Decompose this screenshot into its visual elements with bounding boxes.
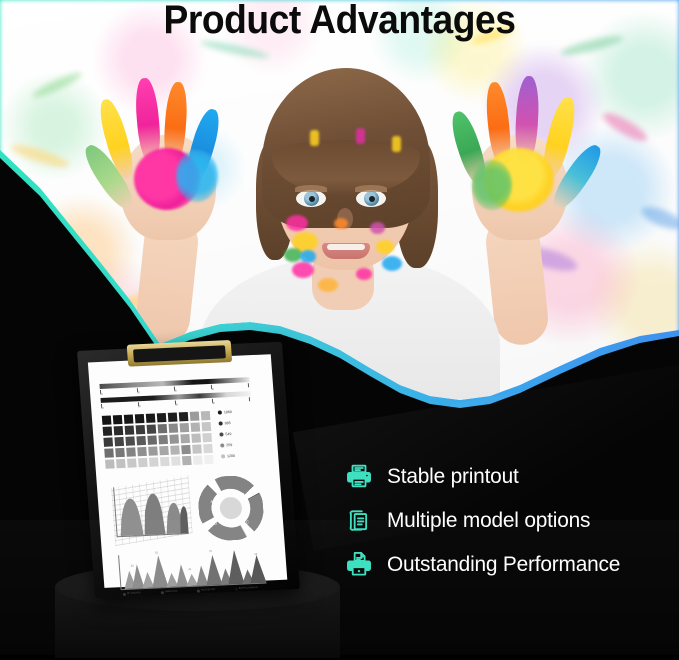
legend-value: 259 <box>226 443 232 447</box>
girl-teeth <box>327 244 365 250</box>
face-paint-dab <box>356 268 372 280</box>
legend-item: 549 <box>219 432 231 437</box>
spike-label: 42 <box>254 553 257 556</box>
spike-label: 55 <box>155 551 158 554</box>
legend-dot <box>235 588 238 591</box>
legend-value: 885 <box>225 421 231 425</box>
girl-eyelid-left <box>295 185 327 192</box>
legend-item: 1200 <box>221 454 235 459</box>
feature-list: Stable printout Multiple model options <box>345 462 675 578</box>
legend-dot <box>123 593 126 596</box>
face-paint-dab <box>370 222 385 234</box>
face-paint-dab <box>286 215 308 231</box>
legend-value: 1860 <box>224 410 232 414</box>
girl-eyelid-right <box>355 185 387 192</box>
spike-label: 70 <box>209 550 212 553</box>
right-palm-paint-green <box>472 160 512 210</box>
test-print-sheet: 10 20 30 40 10 20 30 40 <box>88 354 287 588</box>
feature-label: Stable printout <box>387 464 519 489</box>
legend-label: LMB-5C/GX <box>165 591 178 594</box>
hair-paint-streak <box>392 136 401 152</box>
donut-segment-label-b: B <box>242 491 245 496</box>
feature-item-multiple-model-options: Multiple model options <box>345 506 675 534</box>
documents-stack-icon <box>345 506 373 534</box>
face-paint-dab <box>318 278 338 292</box>
feature-label: Outstanding Performance <box>387 552 620 577</box>
spike-legend-item: LMB-5C/GX <box>161 591 178 594</box>
legend-dot <box>218 410 222 414</box>
donut-segment-label-d: D <box>214 521 217 526</box>
face-paint-dab <box>334 218 348 229</box>
legend-value: 549 <box>225 432 231 436</box>
legend-item: 885 <box>219 421 231 426</box>
legend-dot <box>219 432 223 436</box>
spike-label: 32 <box>131 565 134 568</box>
legend-item: 1860 <box>218 410 232 415</box>
spike-chart: 32 55 41 70 42 RF-2400/05X LMB-5C/GX MLX… <box>114 546 271 597</box>
legend-dot <box>221 454 225 458</box>
legend-label: RF-2400/05X <box>127 593 141 596</box>
spike-legend-item: BW-FCC/2468-KD <box>235 587 258 591</box>
spike-legend-item: MLX2 BC-06T <box>197 589 216 592</box>
printer-icon <box>345 462 373 490</box>
legend-value: 1200 <box>227 454 235 458</box>
area-chart-series <box>111 480 193 541</box>
donut-chart: A B C D <box>197 475 266 542</box>
feature-label: Multiple model options <box>387 508 590 533</box>
page-title: Product Advantages <box>24 0 655 43</box>
donut-segment-label-a: A <box>210 499 213 504</box>
printer-page-icon <box>345 550 373 578</box>
donut-segment-label-c: C <box>246 519 249 524</box>
hair-paint-streak <box>310 130 319 146</box>
feature-item-outstanding-performance: Outstanding Performance <box>345 550 675 578</box>
girl-pupil-right <box>369 196 375 202</box>
legend-dot <box>197 590 200 593</box>
left-palm-paint-blue <box>176 150 218 202</box>
face-paint-dab <box>382 256 402 271</box>
legend-dot <box>220 443 224 447</box>
spike-label: 41 <box>188 568 191 571</box>
legend-label: BW-FCC/2468-KD <box>239 587 258 590</box>
legend-label: MLX2 BC-06T <box>201 589 216 592</box>
area-chart <box>111 480 193 541</box>
girl-pupil-left <box>309 196 315 202</box>
face-paint-dab <box>292 262 314 278</box>
hair-paint-streak <box>356 128 365 144</box>
face-paint-dab <box>376 240 394 254</box>
legend-dot <box>161 591 164 594</box>
spike-legend-item: RF-2400/05X <box>123 592 141 595</box>
legend-dot <box>219 421 223 425</box>
clipboard: 10 20 30 40 10 20 30 40 <box>77 342 300 599</box>
legend-item: 259 <box>220 443 232 448</box>
feature-item-stable-printout: Stable printout <box>345 462 675 490</box>
